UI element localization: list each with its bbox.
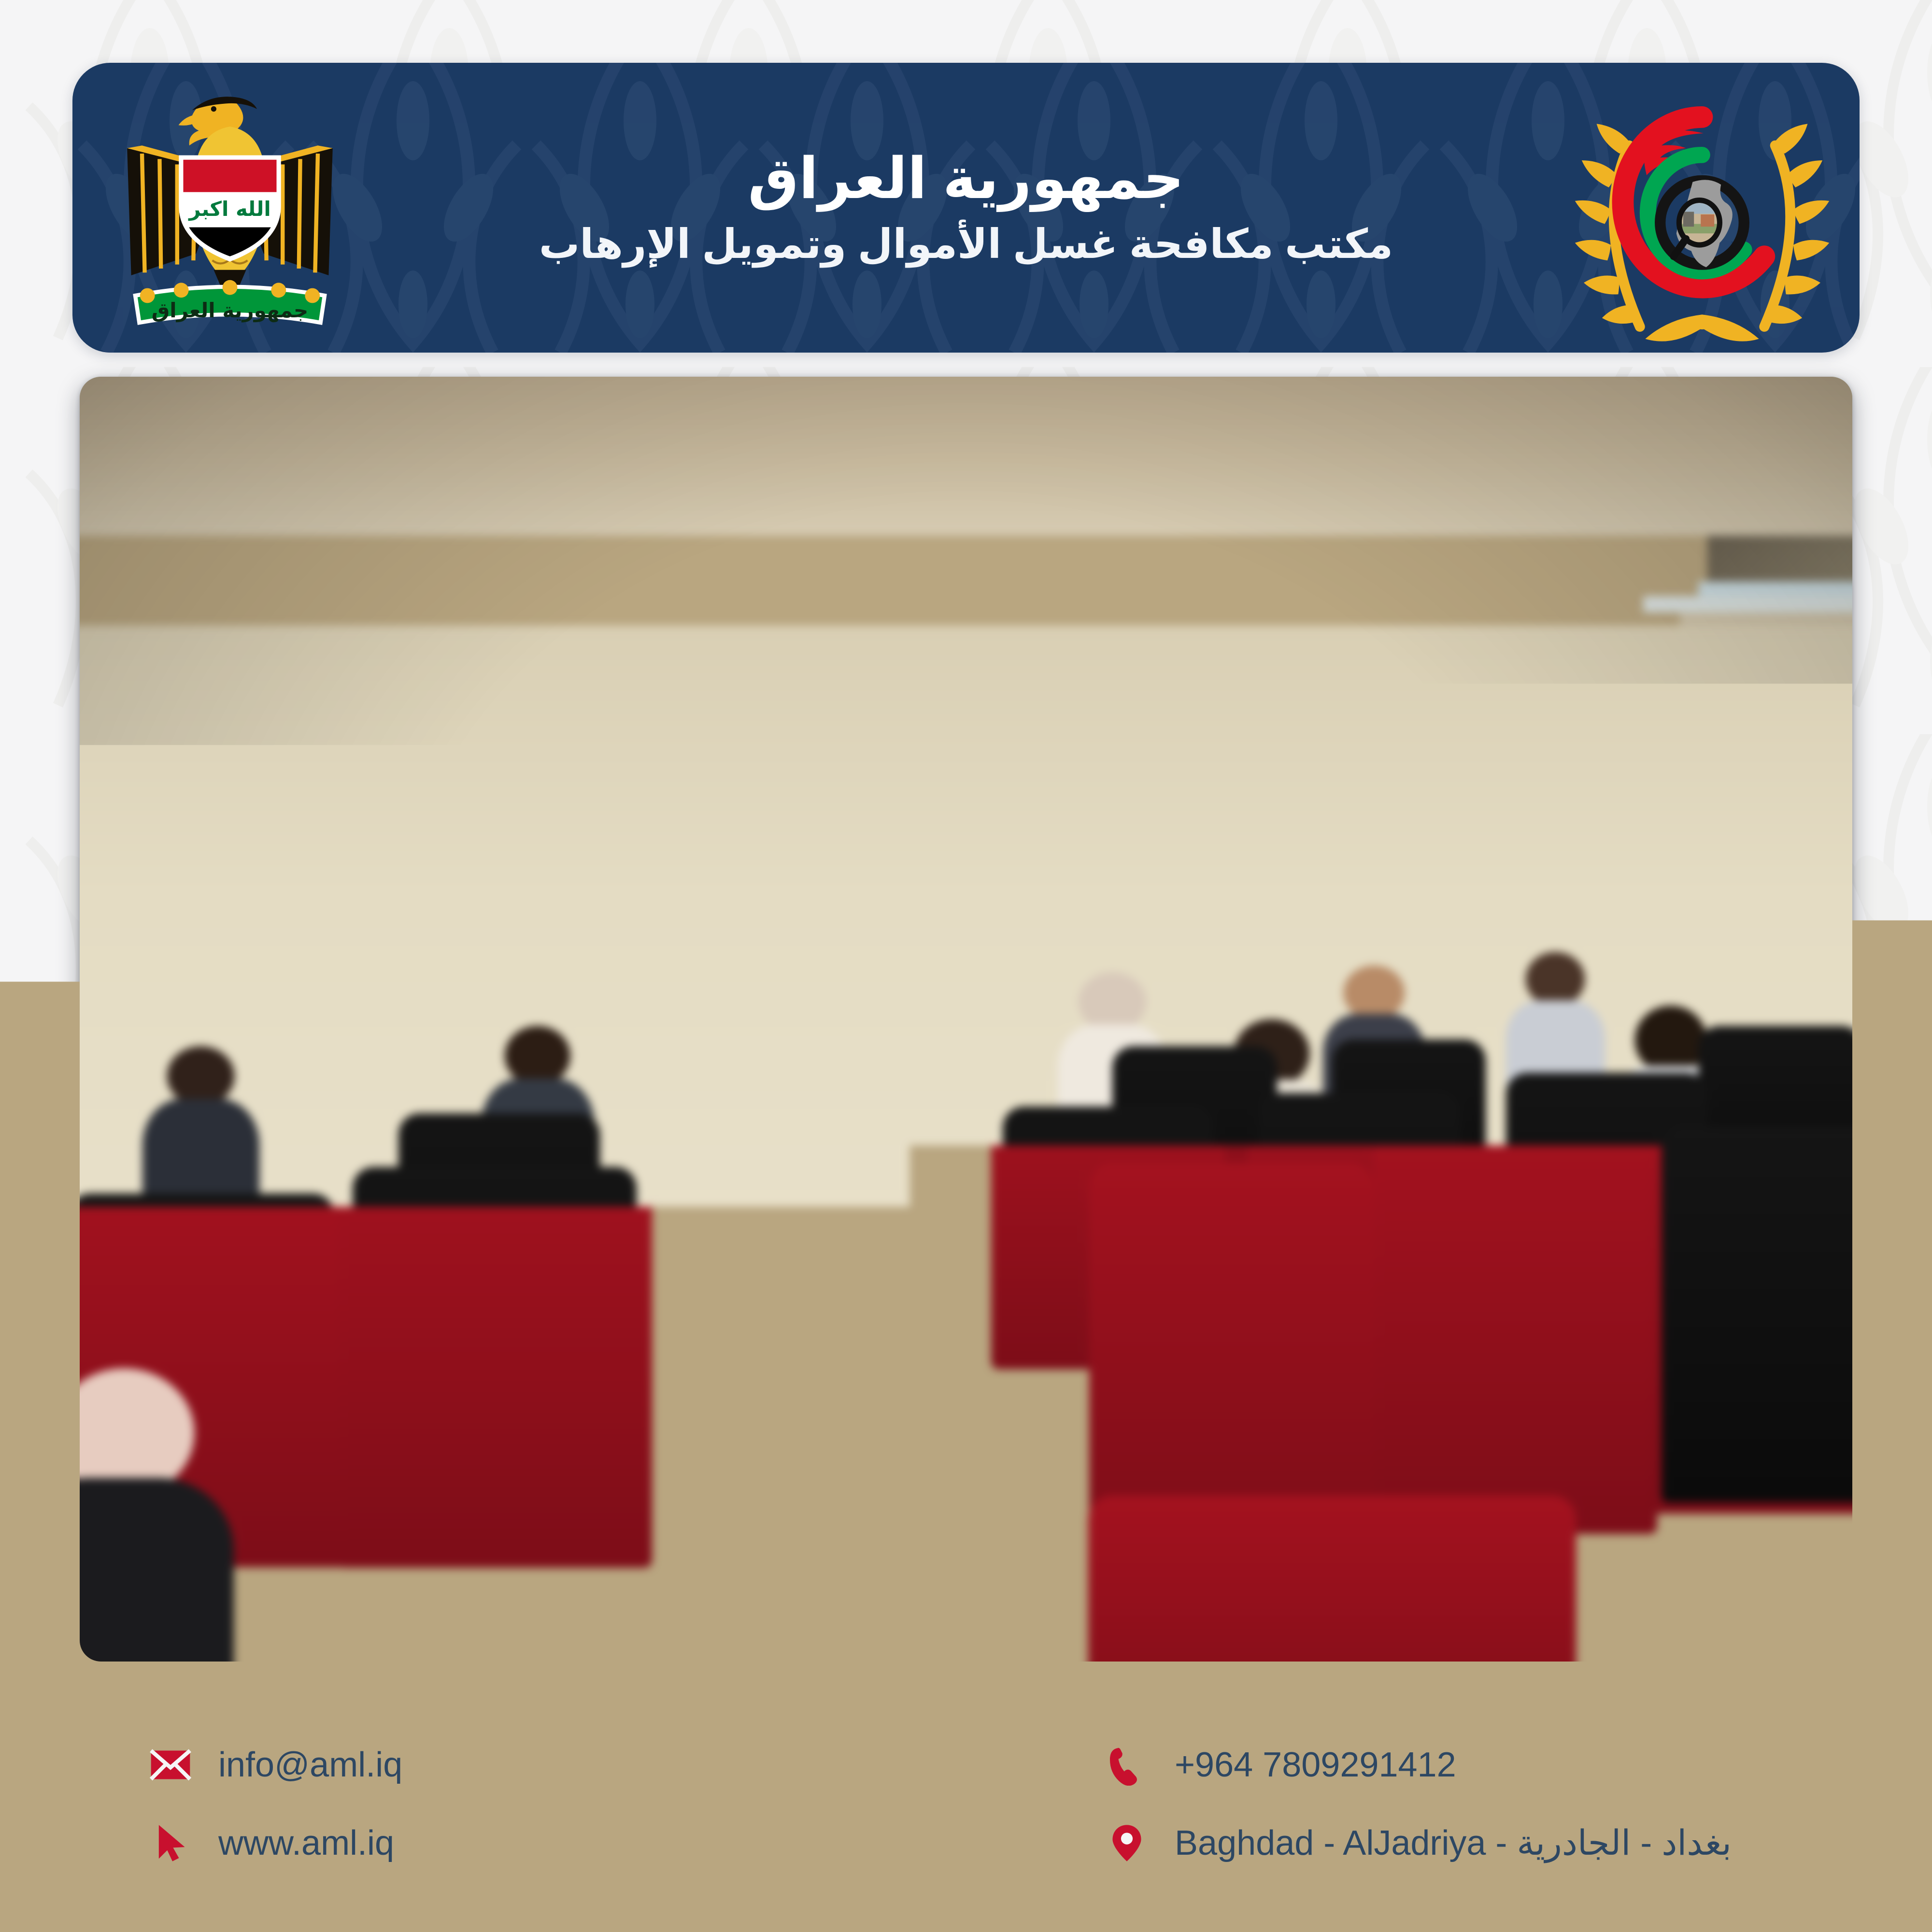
envelope-icon xyxy=(150,1744,191,1786)
cursor-arrow-icon xyxy=(150,1822,191,1864)
contact-email-row[interactable]: info@aml.iq xyxy=(150,1744,402,1786)
page-title: جمهورية العراق xyxy=(748,149,1184,209)
contact-address-label: Baghdad - AlJadriya - بغداد - الجادرية xyxy=(1175,1826,1732,1861)
iraq-coat-of-arms: الله اكبر جمهورية العراق xyxy=(95,72,365,343)
header-title-group: جمهورية العراق مكتب مكافحة غسل الأموال و… xyxy=(365,149,1567,266)
contact-website-row[interactable]: www.aml.iq xyxy=(150,1822,394,1864)
header-banner: جمهورية العراق مكتب مكافحة غسل الأموال و… xyxy=(72,63,1860,353)
contact-phone-row[interactable]: +964 7809291412 xyxy=(1106,1744,1456,1786)
shield-takbir-text: الله اكبر xyxy=(188,197,271,221)
phone-icon xyxy=(1106,1744,1148,1786)
training-session-photograph xyxy=(80,377,1852,1662)
contact-address-row[interactable]: Baghdad - AlJadriya - بغداد - الجادرية xyxy=(1106,1822,1732,1864)
coat-of-arms-scroll-text: جمهورية العراق xyxy=(152,298,308,323)
page-subtitle: مكتب مكافحة غسل الأموال وتمويل الإرهاب xyxy=(539,222,1393,266)
photo-vignette xyxy=(80,377,1852,1662)
contact-phone-label: +964 7809291412 xyxy=(1175,1747,1456,1782)
location-pin-icon xyxy=(1106,1822,1148,1864)
footer-contact-bar: info@aml.iq www.aml.iq +964 78092 xyxy=(0,1676,1932,1932)
contact-email-label: info@aml.iq xyxy=(218,1747,402,1782)
contact-website-label: www.aml.iq xyxy=(218,1826,394,1861)
aml-office-logo xyxy=(1567,72,1837,343)
